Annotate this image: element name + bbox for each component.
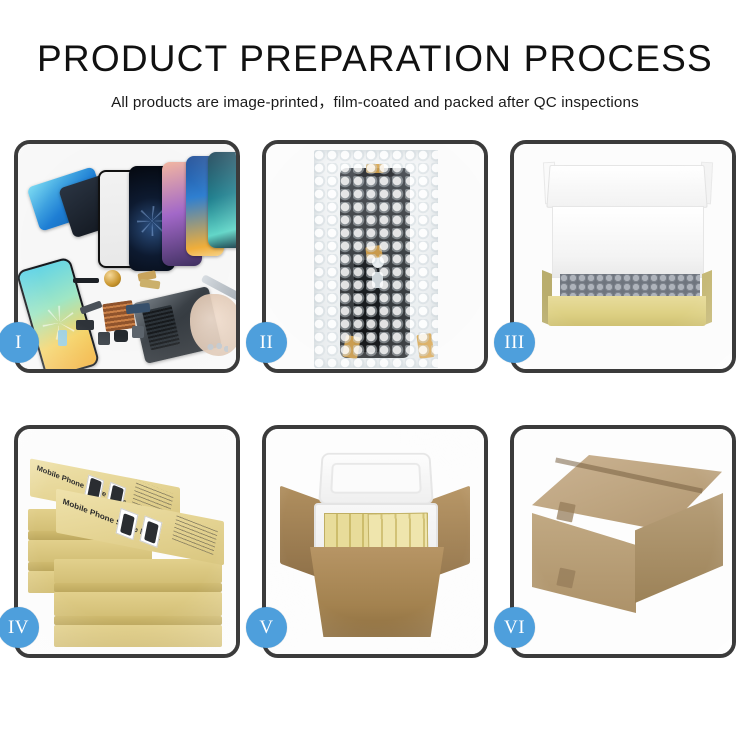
- box-window: [116, 508, 139, 540]
- stacked-box: [54, 616, 222, 625]
- step-panel-5[interactable]: V: [262, 425, 488, 658]
- box-stack-image: Mobile Phone Spare Parts Mobile Phone Sp…: [26, 447, 232, 643]
- part-icon: [140, 279, 161, 290]
- step-badge-6: VI: [494, 607, 535, 648]
- step-panel-6[interactable]: VI: [510, 425, 736, 658]
- step-image-1: [18, 144, 236, 369]
- part-icon: [58, 330, 67, 346]
- teal-phone-image: [208, 152, 236, 248]
- step-image-2: [266, 144, 484, 369]
- step-badge-1: I: [0, 322, 39, 363]
- step-badge-3: III: [494, 322, 535, 363]
- speaker-component-image: [104, 270, 121, 287]
- step-panel-2[interactable]: II: [262, 140, 488, 373]
- stacked-box: [54, 625, 222, 647]
- bubble-texture: [314, 150, 438, 368]
- screws-image: [206, 342, 228, 352]
- box-front-panel: [548, 296, 706, 326]
- part-icon: [114, 330, 128, 342]
- step-image-5: [266, 429, 484, 654]
- part-icon: [73, 278, 99, 283]
- page-header: PRODUCT PREPARATION PROCESS All products…: [0, 0, 750, 112]
- carton-front-face: [532, 513, 636, 613]
- box-lid-image: [546, 165, 707, 208]
- step-panel-4[interactable]: Mobile Phone Spare Parts Mobile Phone Sp…: [14, 425, 240, 658]
- carton-body-image: [310, 547, 444, 637]
- foam-box-lid-image: [318, 453, 434, 505]
- part-icon: [98, 332, 110, 345]
- part-icon: [132, 326, 144, 338]
- part-icon: [76, 320, 94, 330]
- step-panel-1[interactable]: I: [14, 140, 240, 373]
- stacked-box: [54, 583, 222, 592]
- step-image-3: [514, 144, 732, 369]
- step-image-4: Mobile Phone Spare Parts Mobile Phone Sp…: [18, 429, 236, 654]
- stacked-box: [54, 559, 222, 583]
- step-badge-2: II: [246, 322, 287, 363]
- page-title: PRODUCT PREPARATION PROCESS: [0, 40, 750, 79]
- carton-tape: [556, 502, 575, 523]
- process-steps-grid: I II: [14, 140, 736, 658]
- stacked-box: [54, 592, 222, 616]
- step-image-6: [514, 429, 732, 654]
- foam-sheet-image: [552, 206, 704, 278]
- step-panel-3[interactable]: III: [510, 140, 736, 373]
- step-badge-4: IV: [0, 607, 39, 648]
- box-spec-lines: [172, 514, 218, 555]
- bubble-wrap-bag-image: [314, 150, 438, 368]
- step-badge-5: V: [246, 607, 287, 648]
- page-subtitle: All products are image-printed，film-coat…: [0, 90, 750, 112]
